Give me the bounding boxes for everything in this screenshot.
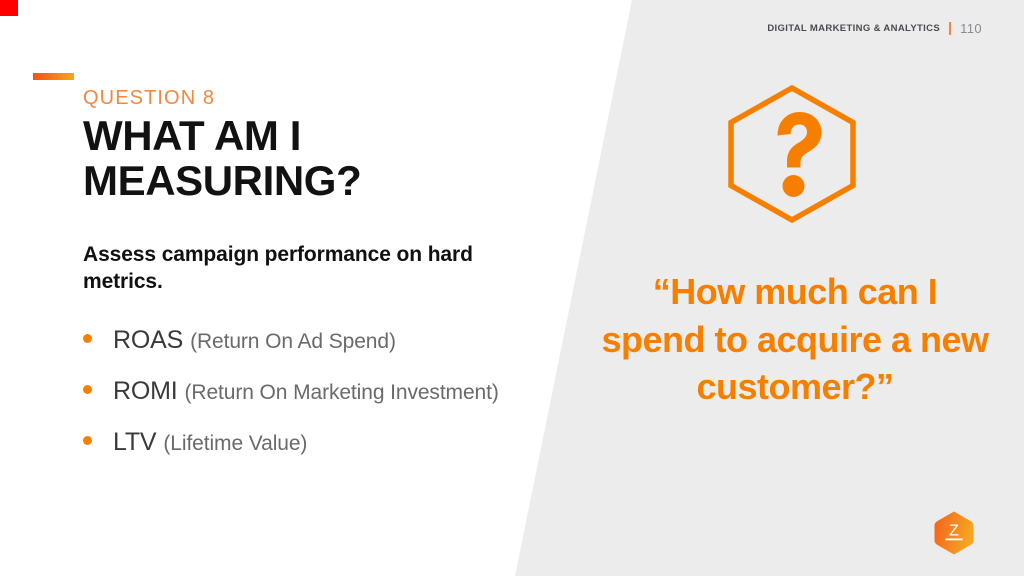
metric-expansion: (Return On Marketing Investment) [184,381,498,405]
metric-acronym: LTV [113,428,156,457]
left-content-column: QUESTION 8 WHAT AM I MEASURING? Assess c… [33,60,533,479]
header-separator-icon [949,22,951,35]
slide-canvas: DIGITAL MARKETING & ANALYTICS 110 QUESTI… [0,0,1024,576]
hexagon-question-mark-icon [727,84,857,224]
quote-text: “How much can I spend to acquire a new c… [600,268,990,411]
metric-expansion: (Lifetime Value) [163,432,307,456]
question-label: QUESTION 8 [83,87,533,110]
red-corner-marker [0,0,18,16]
list-item: ROMI (Return On Marketing Investment) [83,377,533,406]
metric-acronym: ROMI [113,377,177,406]
bullet-dot-icon [83,436,92,445]
slide-header: DIGITAL MARKETING & ANALYTICS 110 [767,21,982,36]
list-item: ROAS (Return On Ad Spend) [83,326,533,355]
list-item: LTV (Lifetime Value) [83,428,533,457]
page-title: WHAT AM I MEASURING? [83,114,413,203]
brand-logo-hexagon: Z [933,510,975,556]
logo-letter: Z [949,523,959,540]
metrics-list: ROAS (Return On Ad Spend) ROMI (Return O… [83,326,533,457]
page-number: 110 [960,21,982,36]
metric-acronym: ROAS [113,326,183,355]
metric-expansion: (Return On Ad Spend) [190,330,396,354]
bullet-dot-icon [83,334,92,343]
subtitle-text: Assess campaign performance on hard metr… [83,241,513,296]
bullet-dot-icon [83,385,92,394]
header-deck-title: DIGITAL MARKETING & ANALYTICS [767,23,940,34]
accent-bar [33,73,74,80]
